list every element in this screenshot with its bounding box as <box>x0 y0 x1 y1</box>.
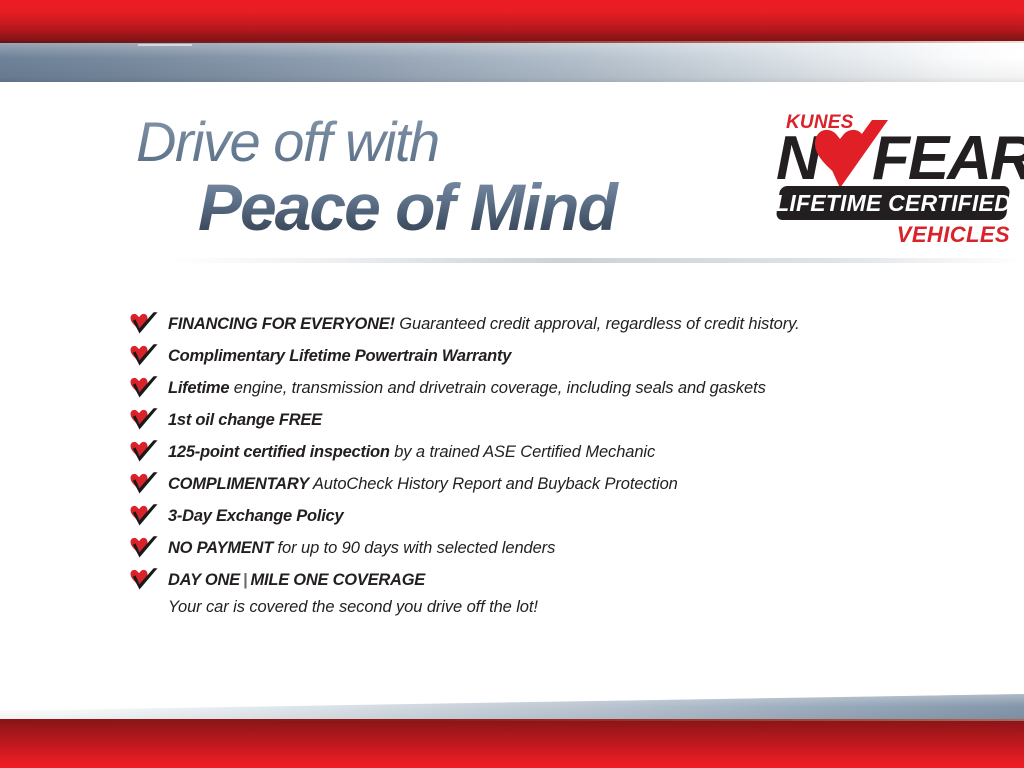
heart-check-bullet-icon <box>130 535 158 559</box>
list-item-text: NO PAYMENT for up to 90 days with select… <box>168 539 555 557</box>
list-item-bold-day-one: DAY ONE <box>168 571 240 589</box>
list-item-text: FINANCING FOR EVERYONE! Guaranteed credi… <box>168 315 800 333</box>
headline-line-1: Drive off with <box>136 114 776 170</box>
list-item-text: 1st oil change FREE <box>168 411 322 429</box>
list-item-normal: engine, transmission and drivetrain cove… <box>229 379 766 397</box>
logo-lifetime-certified-text: LIFETIME CERTIFIED <box>778 186 1008 220</box>
list-item-subtext: Your car is covered the second you drive… <box>130 596 950 619</box>
top-gray-band-sheen <box>0 43 1024 82</box>
list-item-text: Lifetime engine, transmission and drivet… <box>168 379 766 397</box>
heart-check-bullet-icon <box>130 567 158 591</box>
list-item-normal: by a trained ASE Certified Mechanic <box>390 443 655 461</box>
list-item-text: 125-point certified inspection by a trai… <box>168 443 655 461</box>
list-item: Complimentary Lifetime Powertrain Warran… <box>130 340 950 372</box>
list-item: 1st oil change FREE <box>130 404 950 436</box>
heart-check-bullet-icon <box>130 343 158 367</box>
list-item-separator: | <box>240 571 251 589</box>
list-item-bold: 125-point certified inspection <box>168 443 390 461</box>
list-item-bold: FINANCING FOR EVERYONE! <box>168 315 395 333</box>
list-item: NO PAYMENT for up to 90 days with select… <box>130 532 950 564</box>
list-item-normal: AutoCheck History Report and Buyback Pro… <box>309 475 678 493</box>
top-red-band <box>0 0 1024 41</box>
kunes-no-fear-logo: KUNES N FEAR LIFETIME CERTIFIED VEHICLES <box>772 108 1016 248</box>
header-divider <box>170 258 1024 263</box>
logo-word-vehicles: VEHICLES <box>897 222 1010 248</box>
list-item-bold: COMPLIMENTARY <box>168 475 309 493</box>
list-item: DAY ONE|MILE ONE COVERAGE <box>130 564 950 596</box>
list-item-bold: NO PAYMENT <box>168 539 273 557</box>
list-item-text: Complimentary Lifetime Powertrain Warran… <box>168 347 511 365</box>
list-item-text: COMPLIMENTARY AutoCheck History Report a… <box>168 475 678 493</box>
list-item-normal: for up to 90 days with selected lenders <box>273 539 555 557</box>
list-item-bold-mile-one: MILE ONE COVERAGE <box>251 571 426 589</box>
list-item-bold: 1st oil change FREE <box>168 411 322 429</box>
headline-line-2: Peace of Mind <box>198 172 776 242</box>
heart-check-bullet-icon <box>130 471 158 495</box>
list-item: COMPLIMENTARY AutoCheck History Report a… <box>130 468 950 500</box>
heart-check-bullet-icon <box>130 311 158 335</box>
list-item: FINANCING FOR EVERYONE! Guaranteed credi… <box>130 308 950 340</box>
list-item-bold: Complimentary Lifetime Powertrain Warran… <box>168 347 511 365</box>
list-item-text: DAY ONE|MILE ONE COVERAGE <box>168 571 425 589</box>
bottom-gray-band-sheen <box>0 694 1024 721</box>
list-item-normal: Guaranteed credit approval, regardless o… <box>395 315 800 333</box>
heart-check-bullet-icon <box>130 503 158 527</box>
list-item: 3-Day Exchange Policy <box>130 500 950 532</box>
promo-page: Drive off with Peace of Mind KUNES N FEA… <box>0 0 1024 768</box>
heart-check-bullet-icon <box>130 439 158 463</box>
list-item: 125-point certified inspection by a trai… <box>130 436 950 468</box>
page-title: Drive off with Peace of Mind <box>136 114 776 242</box>
logo-no-fear-wordmark: N FEAR <box>772 128 1016 190</box>
list-item: Lifetime engine, transmission and drivet… <box>130 372 950 404</box>
list-item-text: 3-Day Exchange Policy <box>168 507 343 525</box>
heart-check-bullet-icon <box>130 375 158 399</box>
logo-word-fear: FEAR <box>872 128 1024 190</box>
bottom-red-band <box>0 721 1024 768</box>
list-item-bold: 3-Day Exchange Policy <box>168 507 343 525</box>
benefits-list: FINANCING FOR EVERYONE! Guaranteed credi… <box>130 308 950 619</box>
list-item-bold: Lifetime <box>168 379 229 397</box>
heart-check-bullet-icon <box>130 407 158 431</box>
header: Drive off with Peace of Mind KUNES N FEA… <box>0 100 1024 260</box>
top-gray-band-highlight <box>138 44 192 46</box>
